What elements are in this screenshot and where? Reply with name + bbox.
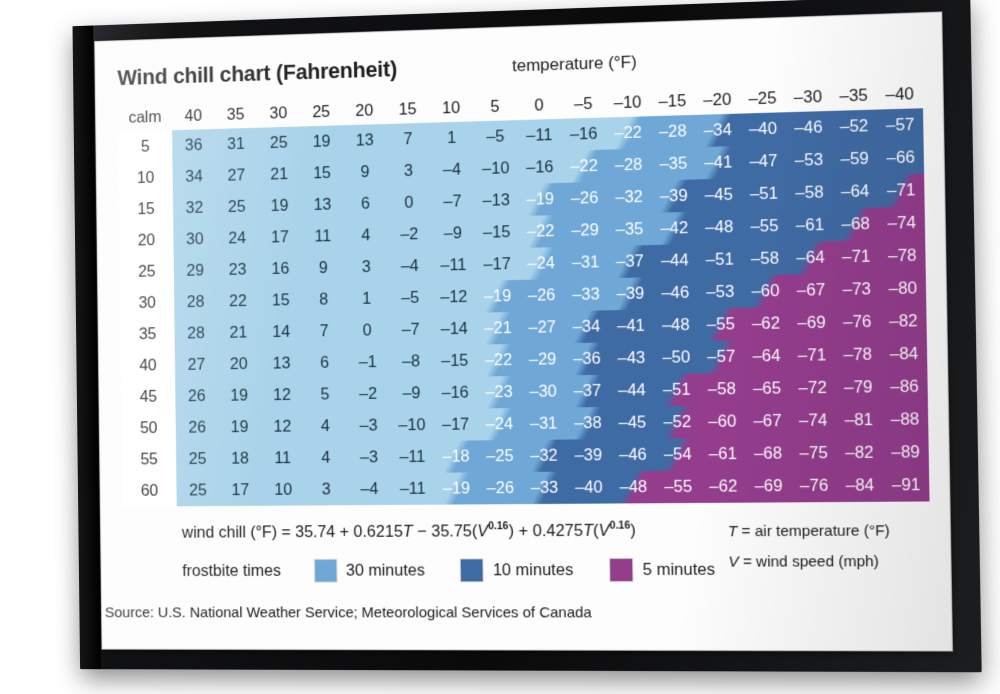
legend-item-2: 5 minutes [609, 558, 715, 583]
cell-w35-t-20: –55 [698, 308, 744, 341]
cell-w30-t-25: –60 [743, 275, 789, 308]
cell-w10-t0: –16 [518, 151, 563, 184]
formula-exp1: 0.16 [488, 520, 508, 532]
cell-w60-t40: 25 [177, 475, 220, 507]
formula-t1: T [403, 522, 413, 540]
cell-w50-t25: 4 [304, 410, 347, 442]
cell-w30-t-30: –67 [788, 274, 834, 307]
definition-T: T = air temperature (°F) [728, 516, 890, 547]
cell-w60-t30: 10 [262, 474, 305, 506]
cell-w5-t-35: –52 [831, 110, 877, 144]
cell-w45-t15: –9 [390, 377, 434, 409]
cell-w55-t-5: –39 [566, 439, 611, 472]
cell-w25-t30: 16 [259, 253, 302, 285]
cell-w35-t25: 7 [302, 315, 345, 347]
cell-w35-t-15: –48 [653, 309, 698, 342]
cell-w10-t-15: –35 [651, 147, 696, 180]
row-header-5: 5 [118, 130, 173, 163]
col-header-20: 20 [342, 92, 386, 125]
cell-w15-t20: 6 [344, 187, 388, 220]
cell-w25-t15: –4 [388, 250, 432, 283]
legend-title: frostbite times [182, 561, 281, 580]
cell-w40-t20: –1 [346, 346, 390, 378]
cell-w50-t0: –31 [521, 407, 566, 440]
cell-w40-t-35: –78 [835, 338, 881, 371]
cell-w5-t-10: –22 [606, 116, 651, 149]
cell-w5-t20: 13 [343, 124, 387, 157]
cell-w40-t-5: –36 [565, 342, 610, 375]
screenshot-root: Wind chill chart (Fahrenheit) temperatur… [0, 0, 1000, 694]
cell-w25-t-20: –51 [697, 243, 743, 276]
row-header-40: 40 [121, 349, 176, 381]
cell-w50-t15: –10 [390, 409, 434, 441]
cell-w10-t-25: –47 [741, 145, 787, 179]
cell-w45-t-40: –86 [881, 370, 928, 403]
definition-V-text: = wind speed (mph) [739, 553, 879, 571]
cell-w10-t-40: –66 [877, 141, 924, 175]
row-header-50: 50 [121, 412, 176, 444]
cell-w55-t-10: –46 [610, 439, 655, 472]
cell-w5-t-25: –40 [740, 112, 786, 146]
col-header-30: 30 [257, 95, 300, 128]
cell-w60-t-20: –62 [700, 470, 746, 503]
definition-T-text: = air temperature (°F) [737, 522, 890, 540]
windchill-table-wrapper: calm 4035302520151050–5–10–15–20–25–30–3… [118, 76, 930, 507]
cell-w30-t-10: –39 [608, 277, 653, 310]
cell-w15-t-5: –26 [562, 182, 607, 215]
cell-w35-t5: –21 [476, 312, 520, 345]
cell-w35-t20: 0 [345, 314, 389, 346]
row-header-55: 55 [122, 444, 177, 476]
cell-w60-t0: –33 [522, 472, 567, 504]
formula-v2: V [599, 521, 610, 539]
cell-w5-t0: –11 [517, 119, 562, 152]
cell-w45-t20: –2 [346, 378, 390, 410]
frostbite-legend: frostbite times 30 minutes10 minutes5 mi… [182, 557, 752, 582]
perspective-container: Wind chill chart (Fahrenheit) temperatur… [0, 0, 1000, 694]
cell-w15-t-25: –51 [741, 177, 787, 211]
cell-w20-t35: 24 [216, 222, 259, 254]
col-header--15: –15 [650, 83, 695, 117]
cell-w30-t0: –26 [519, 279, 564, 312]
formula-mid: − 35.75( [413, 522, 478, 540]
cell-w60-t-40: –91 [883, 469, 930, 502]
cell-w40-t-25: –64 [744, 340, 790, 373]
cell-w40-t-20: –57 [699, 340, 745, 373]
cell-w50-t-30: –74 [790, 404, 836, 437]
legend-item-0: 30 minutes [314, 559, 425, 583]
cell-w20-t-15: –42 [652, 212, 697, 245]
cell-w5-t-5: –16 [561, 118, 606, 151]
cell-w20-t-35: –68 [833, 207, 879, 241]
symbol-definitions: T = air temperature (°F) V = wind speed … [728, 516, 891, 578]
legend-swatch-icon [314, 559, 338, 583]
calm-header: calm [118, 99, 173, 132]
cell-w15-t15: 0 [387, 186, 431, 219]
cell-w35-t10: –14 [432, 313, 476, 346]
cell-w10-t30: 21 [258, 158, 301, 191]
cell-w50-t20: –3 [347, 410, 391, 442]
cell-w35-t30: 14 [260, 316, 303, 348]
x-axis-title: temperature (°F) [512, 52, 637, 76]
cell-w45-t30: 12 [260, 379, 303, 411]
cell-w40-t5: –22 [476, 344, 520, 377]
cell-w20-t-5: –29 [563, 214, 608, 247]
cell-w45-t25: 5 [303, 378, 346, 410]
formula-mid2: ) + 0.4275 [508, 521, 583, 539]
canvas-print: Wind chill chart (Fahrenheit) temperatur… [94, 12, 953, 652]
cell-w50-t-15: –52 [655, 406, 700, 439]
cell-w60-t-35: –84 [837, 469, 883, 502]
cell-w40-t30: 13 [260, 347, 303, 379]
cell-w10-t20: 9 [343, 156, 387, 189]
cell-w35-t40: 28 [175, 317, 218, 349]
cell-w55-t20: –3 [347, 441, 391, 473]
cell-w15-t-15: –39 [651, 179, 696, 212]
row-header-35: 35 [120, 318, 175, 350]
windchill-table: calm 4035302520151050–5–10–15–20–25–30–3… [118, 76, 930, 507]
cell-w20-t-25: –55 [742, 210, 788, 243]
cell-w15-t5: –13 [474, 184, 518, 217]
cell-w55-t0: –32 [522, 440, 567, 473]
cell-w20-t5: –15 [475, 216, 519, 249]
cell-w10-t25: 15 [300, 157, 343, 190]
formula-rparen: ) [630, 521, 636, 539]
cell-w55-t-35: –82 [836, 436, 882, 469]
cell-w5-t-30: –46 [785, 111, 831, 145]
cell-w55-t5: –25 [478, 440, 522, 472]
cell-w50-t40: 26 [176, 412, 219, 444]
cell-w55-t40: 25 [176, 443, 219, 475]
cell-w30-t15: –5 [388, 282, 432, 315]
cell-w55-t-40: –89 [882, 436, 929, 469]
cell-w55-t-30: –75 [791, 437, 837, 470]
cell-w15-t35: 25 [215, 191, 258, 223]
cell-w25-t35: 23 [216, 254, 259, 286]
cell-w55-t35: 18 [219, 443, 262, 475]
cell-w10-t-10: –28 [606, 148, 651, 181]
cell-w25-t-40: –78 [879, 239, 926, 273]
cell-w30-t40: 28 [174, 286, 217, 318]
cell-w55-t-15: –54 [655, 438, 700, 471]
cell-w5-t35: 31 [215, 128, 258, 161]
cell-w15-t-20: –45 [696, 178, 742, 211]
cell-w45-t-20: –58 [699, 373, 745, 406]
cell-w30-t-35: –73 [834, 273, 880, 306]
cell-w20-t-20: –48 [697, 211, 743, 244]
formula-t2: T [583, 521, 593, 539]
cell-w25-t-10: –37 [608, 245, 653, 278]
col-header--25: –25 [740, 80, 786, 114]
cell-w50-t-35: –81 [836, 404, 882, 437]
cell-w15-t40: 32 [173, 192, 216, 224]
cell-w35-t-10: –41 [608, 310, 653, 343]
row-header-25: 25 [120, 255, 175, 287]
cell-w15-t30: 19 [258, 190, 301, 223]
cell-w45-t0: –30 [521, 375, 566, 408]
cell-w30-t-20: –53 [698, 275, 744, 308]
cell-w50-t-20: –60 [699, 405, 745, 438]
col-header--40: –40 [876, 76, 923, 110]
cell-w35-t-5: –34 [564, 310, 609, 343]
cell-w15-t25: 13 [301, 188, 344, 221]
cell-w15-t-40: –71 [878, 174, 925, 208]
cell-w10-t35: 27 [215, 159, 258, 192]
symbol-T: T [728, 523, 738, 540]
definition-V: V = wind speed (mph) [728, 547, 890, 578]
cell-w60-t-25: –69 [746, 470, 792, 503]
cell-w25-t5: –17 [475, 248, 519, 281]
cell-w35-t15: –7 [389, 313, 433, 346]
cell-w25-t-15: –44 [652, 244, 697, 277]
source-note: Source: U.S. National Weather Service; M… [105, 604, 592, 621]
cell-w60-t-10: –48 [611, 471, 656, 504]
cell-w40-t40: 27 [175, 349, 218, 381]
cell-w10-t-5: –22 [562, 150, 607, 183]
cell-w60-t20: –4 [348, 473, 392, 505]
legend-swatch-icon [460, 558, 484, 582]
cell-w5-t10: 1 [430, 121, 474, 154]
cell-w30-t5: –19 [475, 280, 519, 313]
cell-w35-t0: –27 [520, 311, 565, 344]
cell-w45-t35: 19 [218, 380, 261, 412]
legend-swatch-icon [609, 558, 634, 582]
cell-w30-t-5: –33 [564, 278, 609, 311]
cell-w50-t-10: –45 [610, 406, 655, 439]
cell-w20-t10: –9 [431, 217, 475, 250]
col-header-25: 25 [300, 94, 343, 127]
cell-w25-t-25: –58 [742, 242, 788, 275]
legend-item-1: 10 minutes [460, 558, 573, 582]
cell-w25-t25: 9 [302, 252, 345, 284]
table-row: 602517103–4–11–19–26–33–40–48–55–62–69–7… [122, 469, 929, 507]
cell-w10-t5: –10 [474, 152, 518, 185]
cell-w60-t15: –11 [391, 473, 435, 505]
col-header--20: –20 [695, 81, 741, 115]
row-header-60: 60 [122, 475, 177, 507]
cell-w20-t20: 4 [344, 219, 388, 252]
cell-w50-t5: –24 [477, 408, 521, 440]
formula-v1: V [477, 522, 488, 540]
cell-w5-t-20: –34 [695, 114, 741, 148]
cell-w15-t0: –19 [518, 183, 563, 216]
cell-w30-t25: 8 [302, 283, 345, 315]
formula: wind chill (°F) = 35.74 + 0.6215T − 35.7… [182, 519, 636, 542]
cell-w20-t0: –22 [518, 215, 563, 248]
formula-lparen: ( [593, 521, 599, 539]
cell-w15-t-30: –58 [786, 176, 832, 210]
cell-w5-t30: 25 [257, 127, 300, 160]
cell-w35-t-35: –76 [834, 305, 880, 338]
cell-w30-t10: –12 [432, 281, 476, 314]
cell-w30-t20: 1 [345, 283, 389, 316]
cell-w35-t-40: –82 [880, 305, 927, 339]
cell-w40-t-40: –84 [881, 337, 928, 370]
col-header-0: 0 [517, 87, 562, 120]
cell-w50-t-25: –67 [745, 405, 791, 438]
formula-lhs: wind chill (°F) = 35.74 + 0.6215 [182, 522, 403, 541]
cell-w30-t-15: –46 [653, 276, 698, 309]
col-header-10: 10 [429, 90, 473, 123]
cell-w55-t30: 11 [261, 442, 304, 474]
cell-w45-t-10: –44 [609, 374, 654, 407]
cell-w5-t40: 36 [172, 129, 215, 162]
cell-w5-t5: –5 [473, 120, 517, 153]
cell-w40-t10: –15 [433, 345, 477, 378]
cell-w60-t10: –19 [434, 472, 478, 504]
cell-w45-t5: –23 [477, 376, 521, 409]
cell-w30-t-40: –80 [879, 272, 926, 306]
cell-w5-t15: 7 [386, 123, 430, 156]
cell-w45-t-5: –37 [565, 375, 610, 408]
cell-w40-t-30: –71 [789, 339, 835, 372]
cell-w30-t30: 15 [259, 284, 302, 316]
col-header--35: –35 [830, 77, 876, 111]
cell-w15-t-10: –32 [607, 181, 652, 214]
cell-w20-t40: 30 [173, 223, 216, 255]
row-header-20: 20 [119, 224, 174, 256]
col-header--30: –30 [785, 78, 831, 112]
cell-w45-t-15: –51 [654, 373, 699, 406]
cell-w15-t-35: –64 [832, 175, 878, 209]
cell-w45-t-35: –79 [835, 371, 881, 404]
cell-w25-t40: 29 [174, 255, 217, 287]
cell-w60-t-15: –55 [656, 471, 701, 504]
cell-w45-t-25: –65 [744, 372, 790, 405]
cell-w45-t10: –16 [433, 377, 477, 409]
cell-w55-t15: –11 [390, 441, 434, 473]
cell-w25-t-35: –71 [833, 240, 879, 274]
col-header--10: –10 [605, 84, 650, 117]
cell-w5-t-40: –57 [877, 108, 924, 142]
cell-w55-t25: 4 [304, 442, 347, 474]
cell-w35-t-30: –69 [789, 306, 835, 339]
cell-w55-t10: –18 [434, 440, 478, 472]
cell-w25-t20: 3 [345, 251, 389, 284]
cell-w60-t35: 17 [219, 474, 262, 506]
symbol-V: V [728, 553, 738, 570]
cell-w20-t-10: –35 [607, 213, 652, 246]
cell-w10-t10: –4 [430, 153, 474, 186]
cell-w50-t-5: –38 [565, 407, 610, 440]
cell-w20-t-40: –74 [878, 206, 925, 240]
cell-w55-t-25: –68 [745, 437, 791, 470]
cell-w60-t-5: –40 [566, 471, 611, 504]
cell-w35-t35: 21 [217, 317, 260, 349]
cell-w35-t-25: –62 [743, 307, 789, 340]
legend-item-label: 30 minutes [346, 561, 425, 580]
cell-w10-t-30: –53 [786, 143, 832, 177]
col-header--5: –5 [561, 85, 606, 118]
cell-w30-t35: 22 [217, 285, 260, 317]
cell-w60-t-30: –76 [791, 469, 837, 502]
row-header-30: 30 [120, 287, 175, 319]
cell-w20-t-30: –61 [787, 209, 833, 243]
col-header-40: 40 [172, 98, 215, 131]
cell-w40-t-15: –50 [654, 341, 699, 374]
cell-w40-t0: –29 [520, 343, 565, 376]
cell-w50-t10: –17 [434, 408, 478, 440]
col-header-5: 5 [473, 88, 517, 121]
cell-w5-t25: 19 [300, 125, 343, 158]
cell-w55-t-20: –61 [700, 438, 746, 471]
cell-w50-t35: 19 [218, 411, 261, 443]
source-text: Source: U.S. National Weather Service; M… [105, 604, 592, 621]
cell-w40-t-10: –43 [609, 342, 654, 375]
picture-frame: Wind chill chart (Fahrenheit) temperatur… [73, 0, 981, 672]
row-header-10: 10 [118, 162, 173, 195]
cell-w5-t-15: –28 [650, 115, 695, 149]
cell-w25-t-30: –64 [787, 241, 833, 274]
col-header-15: 15 [386, 91, 430, 124]
formula-exp2: 0.16 [610, 520, 631, 532]
cell-w40-t35: 20 [217, 348, 260, 380]
cell-w25-t0: –24 [519, 247, 564, 280]
cell-w10-t40: 34 [173, 160, 216, 192]
cell-w40-t25: 6 [303, 347, 346, 379]
cell-w45-t-30: –72 [790, 371, 836, 404]
cell-w50-t-40: –88 [882, 403, 929, 436]
chart-area: Wind chill chart (Fahrenheit) temperatur… [94, 12, 953, 652]
row-header-15: 15 [119, 193, 174, 226]
cell-w45-t40: 26 [175, 380, 218, 412]
page-title: Wind chill chart (Fahrenheit) [117, 56, 397, 91]
cell-w20-t25: 11 [301, 220, 344, 253]
cell-w40-t15: –8 [389, 345, 433, 377]
cell-w10-t15: 3 [387, 154, 431, 187]
cell-w15-t10: –7 [430, 185, 474, 218]
cell-w10-t-35: –59 [832, 142, 878, 176]
cell-w50-t30: 12 [261, 411, 304, 443]
cell-w25-t10: –11 [431, 249, 475, 282]
row-header-45: 45 [121, 381, 176, 413]
cell-w60-t25: 3 [304, 473, 348, 505]
col-header-35: 35 [214, 96, 257, 129]
cell-w20-t30: 17 [258, 221, 301, 253]
cell-w60-t5: –26 [478, 472, 522, 504]
cell-w10-t-20: –41 [696, 146, 742, 180]
table-body: 5363125191371–5–11–16–22–28–34–40–46–52–… [118, 108, 929, 506]
legend-item-label: 5 minutes [642, 560, 715, 579]
cell-w20-t15: –2 [387, 218, 431, 251]
legend-item-label: 10 minutes [493, 561, 574, 580]
cell-w25-t-5: –31 [563, 246, 608, 279]
